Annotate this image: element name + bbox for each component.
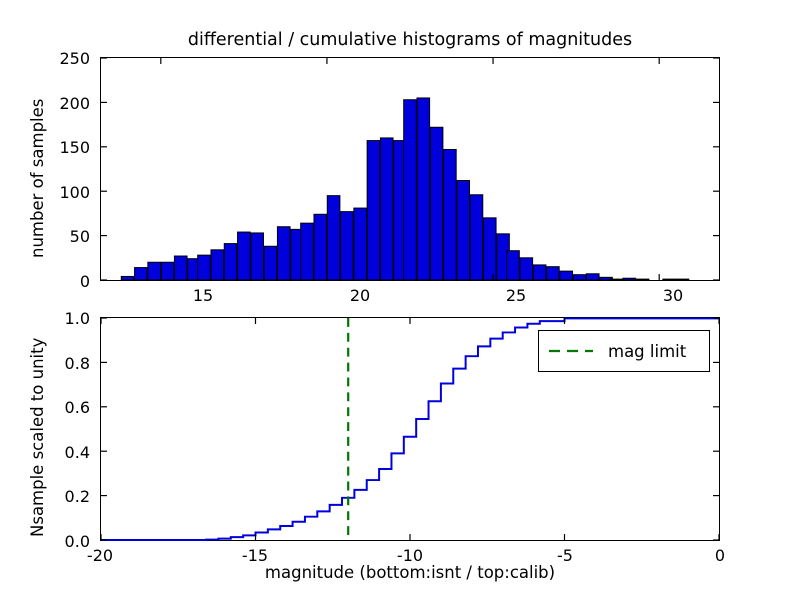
chart-title: differential / cumulative histograms of … — [100, 30, 720, 50]
histogram-bar — [121, 276, 134, 280]
top-ytick-200: 200 — [30, 94, 90, 113]
histogram-bar — [586, 274, 599, 280]
top-xtick-20: 20 — [330, 286, 390, 305]
top-ytick-150: 150 — [30, 138, 90, 157]
histogram-bar — [354, 208, 367, 280]
top-ytick-50: 50 — [30, 227, 90, 246]
histogram-bar — [135, 268, 148, 280]
histogram-bar — [547, 267, 560, 280]
histogram-bar — [610, 279, 623, 280]
histogram-bar — [341, 212, 354, 280]
top-plot-axes — [100, 57, 720, 281]
histogram-bar — [507, 251, 520, 280]
top-ytick-100: 100 — [30, 183, 90, 202]
histogram-bar — [327, 196, 340, 280]
bottom-ytick-06: 0.6 — [30, 398, 90, 417]
bottom-ytick-10: 1.0 — [30, 309, 90, 328]
figure-canvas: differential / cumulative histograms of … — [0, 0, 800, 600]
histogram-bar — [457, 181, 470, 280]
histogram-bar — [314, 214, 327, 280]
histogram-bar — [238, 232, 251, 280]
histogram-bar — [224, 244, 237, 280]
histogram-bar — [623, 278, 636, 280]
histogram-bar — [430, 127, 443, 280]
mag-limit-dashed-line-icon — [548, 344, 594, 358]
histogram-bar — [470, 195, 483, 280]
histogram-bar — [251, 233, 264, 280]
histogram-bar — [301, 223, 314, 280]
top-xtick-25: 25 — [486, 286, 546, 305]
top-ytick-0: 0 — [30, 272, 90, 291]
histogram-bar — [198, 255, 211, 280]
histogram-bar — [277, 227, 290, 280]
histogram-bar — [148, 262, 161, 280]
bottom-ytick-02: 0.2 — [30, 487, 90, 506]
histogram-bar — [560, 271, 573, 280]
histogram-bar — [161, 262, 174, 280]
histogram-bar — [483, 218, 496, 280]
legend[interactable]: mag limit — [538, 330, 710, 372]
histogram-bar — [573, 275, 586, 280]
histogram-bar — [444, 149, 457, 280]
histogram-bar — [367, 141, 380, 280]
histogram-bar — [211, 250, 224, 280]
top-ytick-250: 250 — [30, 49, 90, 68]
xaxis-label: magnitude (bottom:isnt / top:calib) — [100, 563, 720, 582]
top-xtick-15: 15 — [173, 286, 233, 305]
histogram-bar — [663, 279, 676, 280]
histogram-bar — [380, 138, 393, 280]
bottom-ytick-08: 0.8 — [30, 354, 90, 373]
histogram-bar — [520, 258, 533, 280]
histogram-bar — [404, 100, 417, 280]
bottom-ytick-04: 0.4 — [30, 443, 90, 462]
histogram-bar — [264, 246, 277, 280]
histogram-bar — [174, 256, 187, 280]
top-xtick-30: 30 — [643, 286, 703, 305]
histogram-bar — [636, 279, 649, 280]
histogram-bar — [676, 279, 689, 280]
histogram-bar — [533, 265, 546, 280]
histogram-bar — [417, 98, 430, 280]
histogram-plot-area — [101, 58, 719, 280]
legend-label-mag-limit: mag limit — [608, 342, 686, 361]
